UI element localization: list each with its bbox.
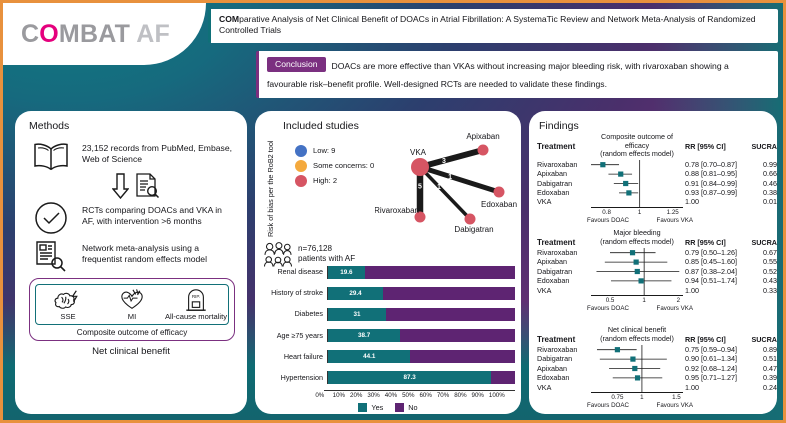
forest-row-rr: 0.87 [0.38–2.04] <box>685 267 747 276</box>
forest-row-sucra: 0.24 <box>747 383 777 392</box>
forest-x-tick: 2 <box>677 297 680 304</box>
bar-x-tick: 90% <box>472 392 489 399</box>
network-node-label: Edoxaban <box>481 200 517 209</box>
bar-track: 29.4 <box>327 287 515 300</box>
forest-row-sucra: 0.51 <box>747 354 777 363</box>
bar-category-label: History of stroke <box>261 289 327 297</box>
composite-outcome-box: SSE MI RIP. <box>29 278 235 341</box>
forest-row-rr: 0.95 [0.71–1.27] <box>685 373 747 382</box>
forest-row-treatment: Rivaroxaban <box>537 248 591 257</box>
heart-icon <box>117 288 147 312</box>
bar-segment-yes: 19.6 <box>328 266 365 279</box>
method-item-rcts: RCTs comparing DOACs and VKA in AF, with… <box>15 200 247 236</box>
bar-x-tick: 80% <box>454 392 471 399</box>
forest-row-rr: 1.00 <box>685 197 747 206</box>
bar-value-yes: 87.3 <box>403 374 415 381</box>
forest-row-rr: 0.91 [0.84–0.99] <box>685 179 747 188</box>
bar-segment-yes: 87.3 <box>328 371 491 384</box>
method-text-records: 23,152 records from PubMed, Embase, Web … <box>82 138 235 166</box>
forest-x-tick: 1 <box>638 209 641 216</box>
legend-label-no: No <box>408 403 417 412</box>
outcome-sse: SSE <box>36 288 100 322</box>
forest-plot-svg <box>591 160 683 207</box>
forest-col-rr: RR [95% CI] <box>683 326 747 344</box>
rob-label-some: Some concerns: 0 <box>313 162 374 171</box>
findings-heading: Findings <box>539 120 777 132</box>
forest-row-treatment: Dabigatran <box>537 179 591 188</box>
outcome-mi: MI <box>100 288 164 322</box>
tombstone-icon: RIP. <box>183 288 209 312</box>
network-edge-label: 1 <box>437 184 441 191</box>
forest-col-treatment: Treatment <box>537 326 591 344</box>
bar-value-yes: 29.4 <box>349 290 361 297</box>
svg-text:RIP.: RIP. <box>192 294 200 299</box>
methods-heading: Methods <box>29 120 247 132</box>
bar-rows-container: Renal disease19.6History of stroke29.4Di… <box>261 263 515 387</box>
bar-category-label: Diabetes <box>261 310 327 318</box>
forest-row-sucra: 0.55 <box>747 257 777 266</box>
bar-segment-no <box>365 266 515 279</box>
forest-row-sucra: 0.99 <box>747 160 777 169</box>
document-search-small-icon <box>134 173 160 199</box>
forest-x-tick: 1.5 <box>672 394 681 401</box>
infographic-poster: COMBAT AF COMparative Analysis of Net Cl… <box>0 0 786 423</box>
bar-track: 44.1 <box>327 350 515 363</box>
forest-header: TreatmentMajor bleeding(random effects m… <box>529 229 777 247</box>
forest-rr-list: 0.79 [0.50–1.26]0.85 [0.45–1.60]0.87 [0.… <box>683 248 747 295</box>
rob-label-low: Low: 9 <box>313 147 335 156</box>
network-diagram: 3115ApixabanEdoxabanDabigatranRivaroxaba… <box>375 125 521 241</box>
method-text-nma: Network meta-analysis using a frequentis… <box>82 238 235 266</box>
legend-swatch-no <box>395 403 404 412</box>
bar-segment-yes: 38.7 <box>328 329 400 342</box>
logo-c: C <box>21 20 39 48</box>
network-graph-svg: 3115ApixabanEdoxabanDabigatranRivaroxaba… <box>375 125 521 241</box>
forest-row-sucra: 0.33 <box>747 286 777 295</box>
forest-sucra-list: 0.890.510.470.390.24 <box>747 345 777 392</box>
forest-note-right: Favours VKA <box>657 305 693 312</box>
patients-n: n=76,128 <box>298 244 355 254</box>
bar-x-tick: 100% <box>489 392 506 399</box>
bar-track: 31 <box>327 308 515 321</box>
included-studies-panel: Included studies Risk of bias per the Ro… <box>255 111 521 414</box>
network-node <box>494 187 505 198</box>
forest-axis: 0.512Favours DOACFavours VKA <box>591 295 683 315</box>
forest-rr-list: 0.78 [0.70–0.87]0.88 [0.81–0.95]0.91 [0.… <box>683 160 747 207</box>
forest-row-treatment: Edoxaban <box>537 188 591 197</box>
document-search-icon <box>29 238 73 274</box>
forest-row-treatment: VKA <box>537 383 591 392</box>
forest-note-left: Favours DOAC <box>587 402 629 409</box>
network-node-vka <box>411 158 429 176</box>
outcome-label-mortality: All-cause mortality <box>165 313 227 322</box>
forest-row-treatment: Rivaroxaban <box>537 345 591 354</box>
rob-legend-items: Low: 9 Some concerns: 0 High: 2 <box>295 145 374 190</box>
forest-row-sucra: 0.66 <box>747 169 777 178</box>
comorbidity-bar-chart: Renal disease19.6History of stroke29.4Di… <box>261 263 515 409</box>
conclusion-text: DOACs are more effective than VKAs witho… <box>267 61 729 89</box>
forest-row-treatment: Rivaroxaban <box>537 160 591 169</box>
forest-treatment-list: RivaroxabanApixabanDabigatranEdoxabanVKA <box>537 248 591 295</box>
legend-swatch-yes <box>358 403 367 412</box>
method-item-records: 23,152 records from PubMed, Embase, Web … <box>15 138 247 174</box>
forest-sucra-list: 0.990.660.460.380.01 <box>747 160 777 207</box>
bar-value-yes: 44.1 <box>363 353 375 360</box>
forest-row-treatment: Apixaban <box>537 364 591 373</box>
methods-flow-arrow <box>25 173 247 199</box>
bar-row: Hypertension87.3 <box>261 369 515 387</box>
network-node-label: Rivaroxaban <box>375 206 419 215</box>
bar-row: Age ≥75 years38.7 <box>261 327 515 345</box>
outcome-mortality: RIP. All-cause mortality <box>164 288 228 322</box>
bar-x-tick: 40% <box>385 392 402 399</box>
bar-row: Heart failure44.1 <box>261 348 515 366</box>
bar-category-label: Age ≥75 years <box>261 332 327 340</box>
forest-treatment-list: RivaroxabanApixabanDabigatranEdoxabanVKA <box>537 160 591 207</box>
brand-logo: COMBAT AF <box>3 3 206 65</box>
forest-row-rr: 1.00 <box>685 286 747 295</box>
forest-body: RivaroxabanApixabanDabigatranEdoxabanVKA… <box>529 160 777 207</box>
forest-row-treatment: Dabigatran <box>537 267 591 276</box>
net-clinical-benefit-label: Net clinical benefit <box>15 346 247 357</box>
network-node <box>465 214 476 225</box>
network-edge-label: 5 <box>418 183 422 190</box>
bar-row: History of stroke29.4 <box>261 284 515 302</box>
bar-value-yes: 19.6 <box>340 269 352 276</box>
bar-chart-legend: Yes No <box>261 403 515 412</box>
forest-row-treatment: Edoxaban <box>537 373 591 382</box>
forest-title: Net clinical benefit(random effects mode… <box>591 326 683 343</box>
forest-row-treatment: VKA <box>537 286 591 295</box>
logo-mbat: MBAT <box>59 20 130 48</box>
forest-row-treatment: Apixaban <box>537 257 591 266</box>
composite-efficacy-group: SSE MI RIP. <box>35 284 229 325</box>
forest-body: RivaroxabanApixabanDabigatranEdoxabanVKA… <box>529 248 777 295</box>
bar-segment-yes: 31 <box>328 308 386 321</box>
rob-dot-low-icon <box>295 145 307 157</box>
forest-row-rr: 0.93 [0.87–0.99] <box>685 188 747 197</box>
bar-segment-no <box>410 350 515 363</box>
forest-row-sucra: 0.52 <box>747 267 777 276</box>
forest-treatment-list: RivaroxabanDabigatranApixabanEdoxabanVKA <box>537 345 591 392</box>
rob-dot-high-icon <box>295 175 307 187</box>
composite-caption: Composite outcome of efficacy <box>35 328 229 337</box>
forest-rr-list: 0.75 [0.59–0.94]0.90 [0.61–1.34]0.92 [0.… <box>683 345 747 392</box>
forest-row-treatment: Dabigatran <box>537 354 591 363</box>
bar-x-tick: 60% <box>419 392 436 399</box>
forest-row-rr: 0.94 [0.51–1.74] <box>685 276 747 285</box>
forest-row-rr: 0.75 [0.59–0.94] <box>685 345 747 354</box>
bar-category-label: Renal disease <box>261 268 327 276</box>
rob-legend-high: High: 2 <box>295 175 374 187</box>
forest-row-rr: 0.85 [0.45–1.60] <box>685 257 747 266</box>
bar-x-tick: 20% <box>350 392 367 399</box>
down-arrow-icon <box>112 173 129 199</box>
forest-title: Composite outcome of efficacy(random eff… <box>591 133 683 159</box>
logo-o: O <box>39 20 59 48</box>
forest-plot-svg <box>591 248 683 295</box>
forest-x-tick: 0.8 <box>602 209 611 216</box>
forest-x-tick: 1.25 <box>667 209 679 216</box>
forest-col-sucra: SUCRA <box>747 133 777 151</box>
forest-note-right: Favours VKA <box>657 217 693 224</box>
legend-yes: Yes <box>358 403 383 412</box>
outcome-label-sse: SSE <box>60 313 75 322</box>
forest-title: Major bleeding(random effects model) <box>591 229 683 246</box>
forest-row-sucra: 0.39 <box>747 373 777 382</box>
rob-legend-low: Low: 9 <box>295 145 374 157</box>
forest-plot-area <box>591 160 683 207</box>
forest-row-sucra: 0.01 <box>747 197 777 206</box>
bar-x-tick: 0% <box>315 392 332 399</box>
open-book-icon <box>29 138 73 174</box>
forest-plot: TreatmentMajor bleeding(random effects m… <box>529 229 777 315</box>
forest-x-tick: 1 <box>642 297 645 304</box>
forest-row-sucra: 0.67 <box>747 248 777 257</box>
forest-row-rr: 1.00 <box>685 383 747 392</box>
methods-panel: Methods 23,152 records from PubMed, Emba… <box>15 111 247 414</box>
forest-sucra-list: 0.670.550.520.430.33 <box>747 248 777 295</box>
bar-value-yes: 38.7 <box>358 332 370 339</box>
forest-note-right: Favours VKA <box>657 402 693 409</box>
forest-col-sucra: SUCRA <box>747 229 777 247</box>
forest-row-rr: 0.88 [0.81–0.95] <box>685 169 747 178</box>
bar-track: 38.7 <box>327 329 515 342</box>
forest-plot-area <box>591 248 683 295</box>
network-node-label: Apixaban <box>466 132 499 141</box>
forest-plot-svg <box>591 345 683 392</box>
article-title-card: COMparative Analysis of Net Clinical Ben… <box>208 9 778 43</box>
bar-segment-no <box>383 287 515 300</box>
forest-row-sucra: 0.46 <box>747 179 777 188</box>
bar-x-tick: 70% <box>437 392 454 399</box>
forest-plot-area <box>591 345 683 392</box>
bar-segment-no <box>491 371 515 384</box>
forest-col-treatment: Treatment <box>537 133 591 151</box>
forest-row-rr: 0.78 [0.70–0.87] <box>685 160 747 169</box>
forest-x-tick: 1 <box>640 394 643 401</box>
forest-row-sucra: 0.89 <box>747 345 777 354</box>
bar-chart-x-axis: 0%10%20%30%40%50%60%70%80%90%100% <box>324 390 515 399</box>
rob-dot-some-icon <box>295 160 307 172</box>
forest-plot: TreatmentComposite outcome of efficacy(r… <box>529 133 777 227</box>
forest-header: TreatmentNet clinical benefit(random eff… <box>529 326 777 344</box>
bar-segment-no <box>386 308 515 321</box>
forest-col-rr: RR [95% CI] <box>683 229 747 247</box>
forest-body: RivaroxabanDabigatranApixabanEdoxabanVKA… <box>529 345 777 392</box>
bar-segment-yes: 44.1 <box>328 350 410 363</box>
forest-row-rr: 0.92 [0.68–1.24] <box>685 364 747 373</box>
forest-col-treatment: Treatment <box>537 229 591 247</box>
network-edge-label: 1 <box>448 174 452 181</box>
forest-row-treatment: Edoxaban <box>537 276 591 285</box>
rob-legend-some: Some concerns: 0 <box>295 160 374 172</box>
bar-segment-yes: 29.4 <box>328 287 383 300</box>
legend-no: No <box>395 403 417 412</box>
bar-row: Renal disease19.6 <box>261 263 515 281</box>
forest-row-rr: 0.79 [0.50–1.26] <box>685 248 747 257</box>
check-circle-icon <box>29 200 73 236</box>
forest-col-sucra: SUCRA <box>747 326 777 344</box>
forest-plot: TreatmentNet clinical benefit(random eff… <box>529 326 777 412</box>
forest-note-left: Favours DOAC <box>587 305 629 312</box>
network-node <box>478 145 489 156</box>
network-node-label-vka: VKA <box>410 148 427 157</box>
forest-axis: 0.811.25Favours DOACFavours VKA <box>591 207 683 227</box>
bar-value-yes: 31 <box>353 311 360 318</box>
bar-category-label: Heart failure <box>261 353 327 361</box>
method-text-rcts: RCTs comparing DOACs and VKA in AF, with… <box>82 200 235 228</box>
conclusion-badge: Conclusion <box>267 57 326 72</box>
network-edge-label: 3 <box>442 158 446 165</box>
forest-header: TreatmentComposite outcome of efficacy(r… <box>529 133 777 159</box>
forest-row-rr: 0.90 [0.61–1.34] <box>685 354 747 363</box>
conclusion-card: ConclusionDOACs are more effective than … <box>256 51 778 98</box>
network-node-label: Dabigatran <box>454 225 493 234</box>
bar-track: 19.6 <box>327 266 515 279</box>
risk-of-bias-legend: Risk of bias per the RoB2 tool Low: 9 So… <box>265 141 385 241</box>
bar-row: Diabetes31 <box>261 305 515 323</box>
legend-label-yes: Yes <box>371 403 383 412</box>
page-title: parative Analysis of Net Clinical Benefi… <box>219 14 756 35</box>
title-bold-prefix: COM <box>219 14 239 24</box>
rob-axis-label: Risk of bias per the RoB2 tool <box>267 159 276 237</box>
forest-row-sucra: 0.47 <box>747 364 777 373</box>
forest-note-left: Favours DOAC <box>587 217 629 224</box>
forest-row-treatment: VKA <box>537 197 591 206</box>
bar-x-tick: 50% <box>402 392 419 399</box>
logo-af: AF <box>136 20 170 48</box>
findings-panel: Findings TreatmentComposite outcome of e… <box>529 111 777 414</box>
method-item-nma: Network meta-analysis using a frequentis… <box>15 238 247 274</box>
outcome-label-mi: MI <box>128 313 136 322</box>
bar-x-tick: 30% <box>367 392 384 399</box>
bar-track: 87.3 <box>327 371 515 384</box>
rob-label-high: High: 2 <box>313 177 337 186</box>
forest-col-rr: RR [95% CI] <box>683 133 747 151</box>
forest-row-treatment: Apixaban <box>537 169 591 178</box>
forest-row-sucra: 0.43 <box>747 276 777 285</box>
forest-row-sucra: 0.38 <box>747 188 777 197</box>
bar-category-label: Hypertension <box>261 374 327 382</box>
bar-segment-no <box>400 329 515 342</box>
forest-x-tick: 0.75 <box>611 394 623 401</box>
brain-icon <box>52 288 84 312</box>
forest-axis: 0.7511.5Favours DOACFavours VKA <box>591 392 683 412</box>
bar-x-tick: 10% <box>333 392 350 399</box>
forest-x-tick: 0.5 <box>606 297 615 304</box>
